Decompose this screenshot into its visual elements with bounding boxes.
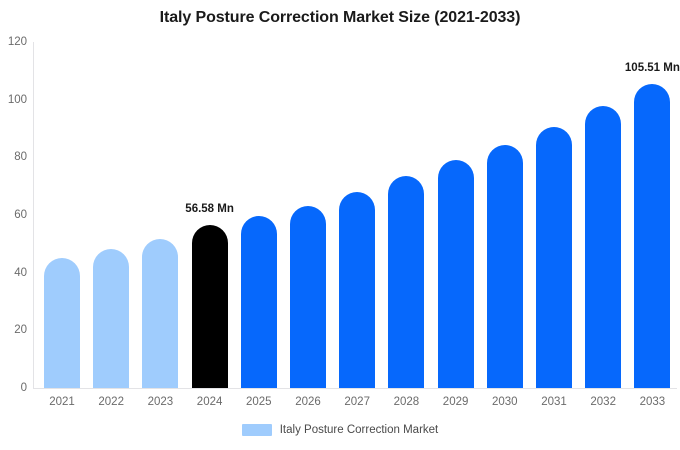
y-axis-tick-80: 80 bbox=[0, 151, 27, 163]
chart-container: Italy Posture Correction Market Size (20… bbox=[0, 0, 680, 450]
y-axis-tick-60: 60 bbox=[0, 209, 27, 221]
y-axis-tick-120: 120 bbox=[0, 36, 27, 48]
x-axis-tick-2032: 2032 bbox=[590, 396, 616, 408]
bar-2026[interactable] bbox=[290, 206, 326, 388]
x-axis-tick-2023: 2023 bbox=[148, 396, 174, 408]
bar-2032[interactable] bbox=[585, 106, 621, 388]
bar-2027[interactable] bbox=[339, 192, 375, 388]
chart-legend: Italy Posture Correction Market bbox=[0, 424, 680, 436]
plot-area bbox=[33, 42, 677, 388]
bar-2028[interactable] bbox=[388, 176, 424, 388]
chart-title: Italy Posture Correction Market Size (20… bbox=[0, 9, 680, 27]
x-axis-tick-2028: 2028 bbox=[394, 396, 420, 408]
x-axis-tick-2030: 2030 bbox=[492, 396, 518, 408]
bar-2033[interactable] bbox=[634, 84, 670, 388]
y-axis-tick-40: 40 bbox=[0, 267, 27, 279]
bar-2024[interactable] bbox=[192, 225, 228, 388]
x-axis-tick-2027: 2027 bbox=[344, 396, 370, 408]
bar-2029[interactable] bbox=[438, 160, 474, 388]
legend-label-italy-posture-correction-market: Italy Posture Correction Market bbox=[280, 424, 439, 436]
value-label-2024: 56.58 Mn bbox=[185, 203, 234, 215]
legend-swatch-italy-posture-correction-market bbox=[242, 424, 272, 436]
bar-2031[interactable] bbox=[536, 127, 572, 388]
value-label-2033: 105.51 Mn bbox=[625, 62, 680, 74]
x-axis-tick-2021: 2021 bbox=[49, 396, 75, 408]
x-axis-tick-2022: 2022 bbox=[98, 396, 124, 408]
y-axis-tick-100: 100 bbox=[0, 94, 27, 106]
bar-2023[interactable] bbox=[142, 239, 178, 388]
x-axis-tick-2026: 2026 bbox=[295, 396, 321, 408]
x-axis-tick-2033: 2033 bbox=[640, 396, 666, 408]
bar-2021[interactable] bbox=[44, 258, 80, 388]
y-axis-tick-20: 20 bbox=[0, 324, 27, 336]
x-axis-tick-2024: 2024 bbox=[197, 396, 223, 408]
bar-2022[interactable] bbox=[93, 249, 129, 388]
x-axis-tick-2025: 2025 bbox=[246, 396, 272, 408]
bar-2030[interactable] bbox=[487, 145, 523, 388]
x-axis-line bbox=[33, 388, 677, 389]
y-axis-tick-0: 0 bbox=[0, 382, 27, 394]
x-axis-tick-2031: 2031 bbox=[541, 396, 567, 408]
x-axis-tick-2029: 2029 bbox=[443, 396, 469, 408]
bar-2025[interactable] bbox=[241, 216, 277, 388]
